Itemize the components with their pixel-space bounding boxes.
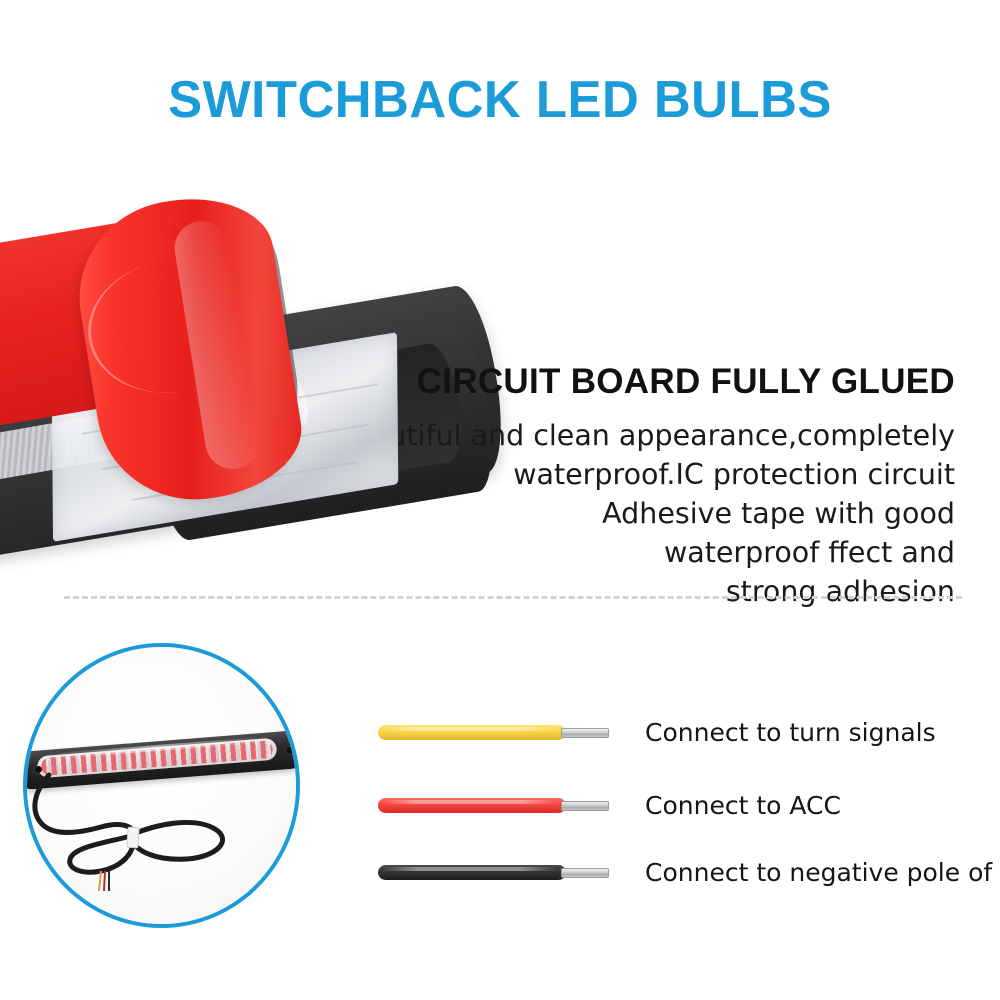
feature-body-line: waterproof ffect and: [275, 533, 955, 572]
wire-insulation: [378, 798, 566, 813]
wire-legend-item-yellow: Connect to turn signals: [378, 712, 978, 752]
yellow-wire-icon: [378, 717, 603, 747]
feature-section: CIRCUIT BOARD FULLY GLUED Beautiful and …: [0, 160, 1000, 580]
wire-legend-item-black: Connect to negative pole of supply: [378, 852, 978, 892]
wire-metal-tip: [561, 868, 609, 878]
wire-legend-item-red: Connect to ACC: [378, 785, 978, 825]
wire-label: Connect to ACC: [645, 793, 841, 818]
wire-label: Connect to turn signals: [645, 720, 936, 745]
wire-metal-tip: [561, 728, 609, 738]
wiring-section: Connect to turn signals Connect to ACC C…: [0, 620, 1000, 960]
page-title: SWITCHBACK LED BULBS: [10, 74, 990, 126]
feature-body-line: Adhesive tape with good: [275, 494, 955, 533]
feature-body-line: strong adhesion: [275, 572, 955, 611]
red-wire-icon: [378, 790, 603, 820]
section-divider: [64, 596, 962, 599]
wire-insulation: [378, 865, 566, 880]
wire-label: Connect to negative pole of supply: [645, 860, 1000, 885]
wire-metal-tip: [561, 801, 609, 811]
infographic-page: SWITCHBACK LED BULBS CIRCUIT BOARD FULLY…: [0, 0, 1000, 1000]
wire-insulation: [378, 725, 566, 740]
wire-legend-list: Connect to turn signals Connect to ACC C…: [0, 620, 1000, 960]
black-wire-icon: [378, 857, 603, 887]
